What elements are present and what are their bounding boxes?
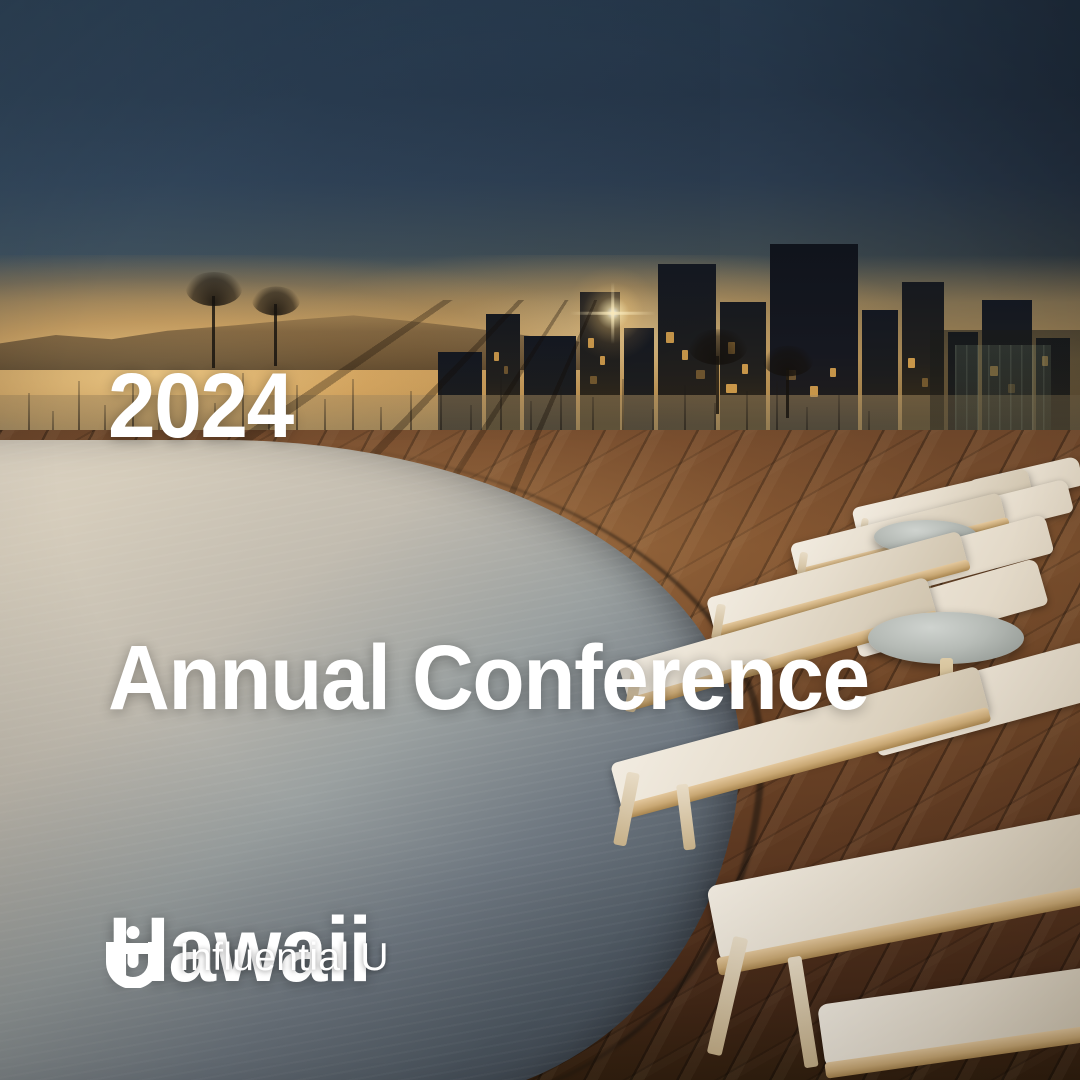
conference-poster: 2024 Annual Conference Hawaii Influentia… — [0, 0, 1080, 1080]
headline-line-event: Annual Conference — [108, 633, 869, 724]
side-table — [868, 612, 1024, 664]
influential-u-logo-icon — [104, 926, 162, 988]
brand-lockup: Influential U — [104, 926, 389, 988]
headline-line-year: 2024 — [108, 361, 869, 452]
brand-name: Influential U — [179, 938, 389, 977]
